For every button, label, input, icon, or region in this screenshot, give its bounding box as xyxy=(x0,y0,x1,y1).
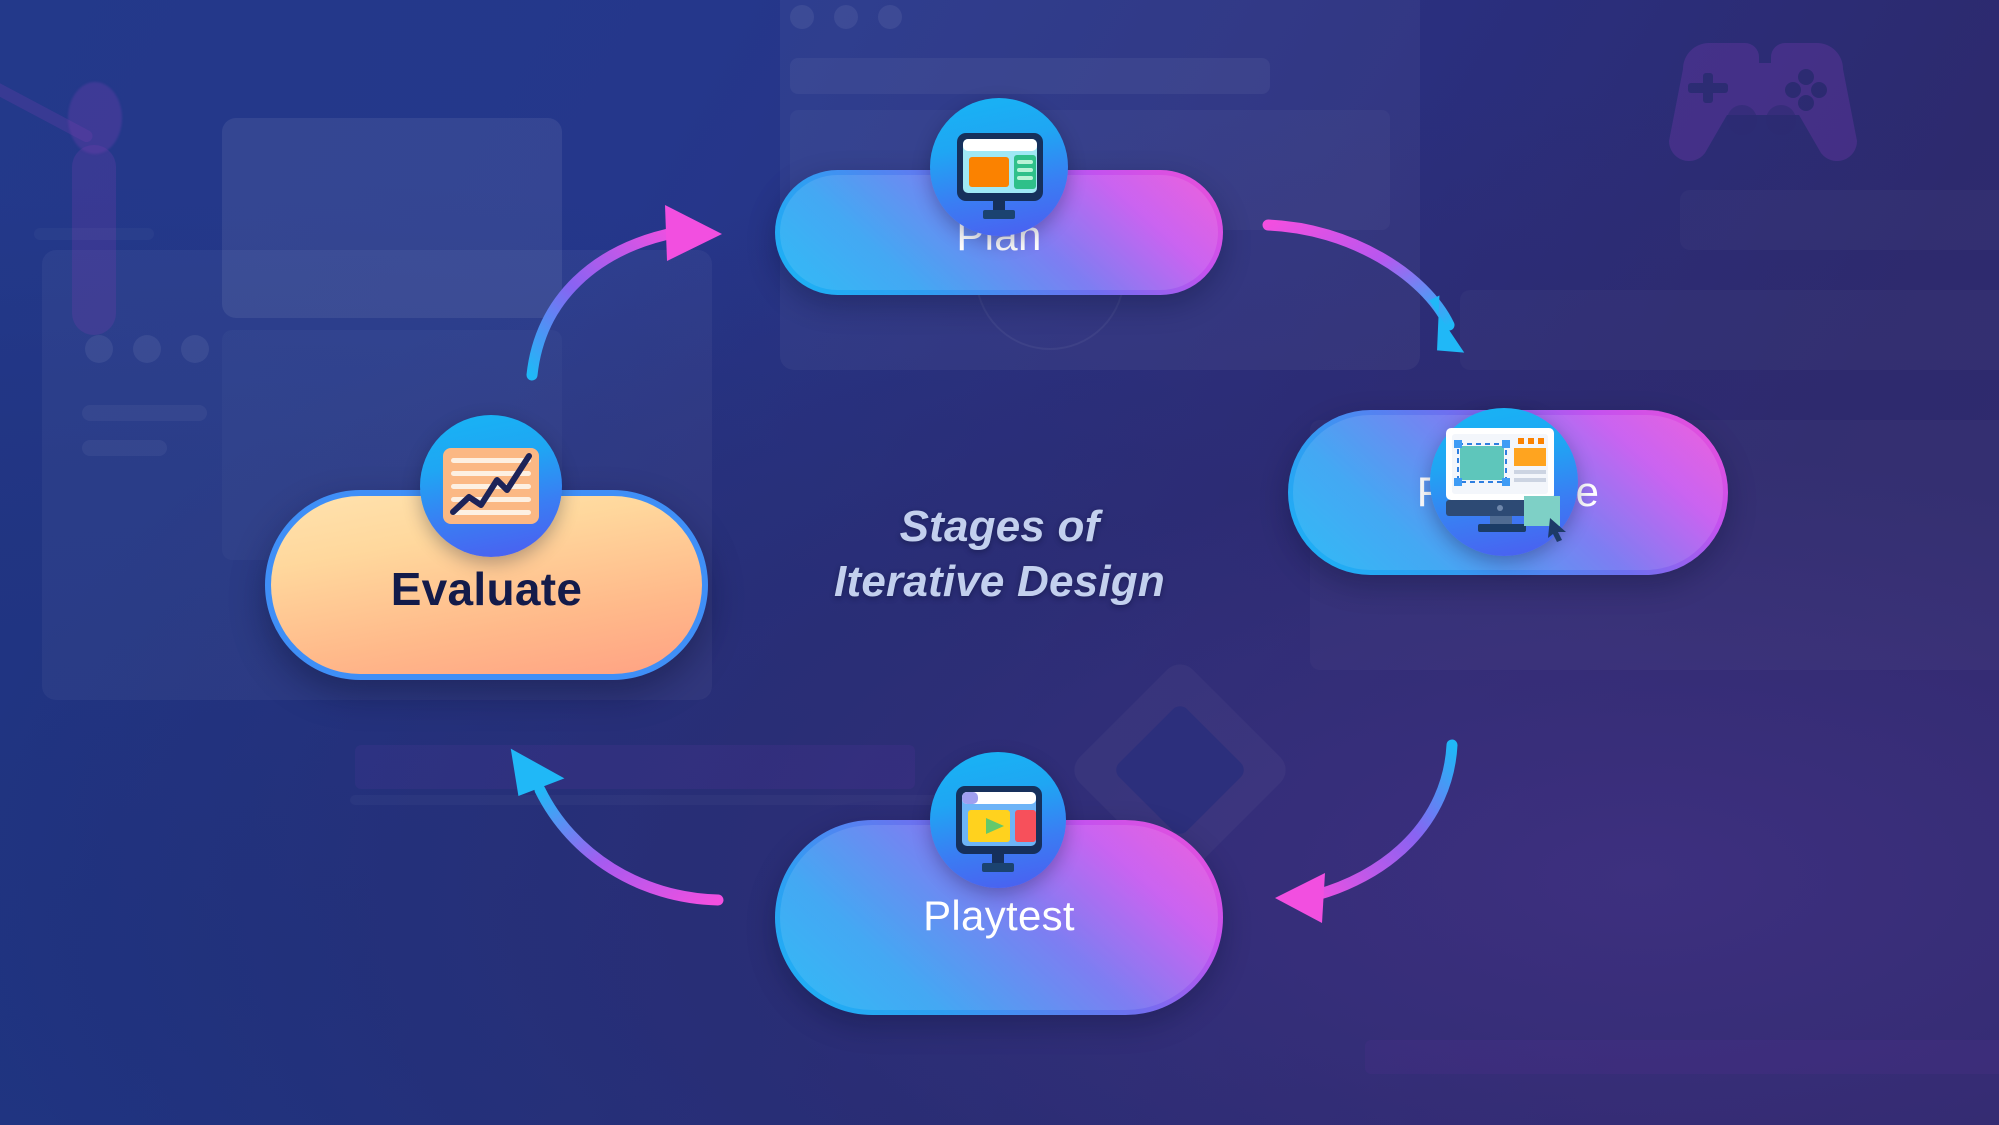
bg-microphone-stand xyxy=(34,228,154,240)
bg-window-bar xyxy=(82,405,207,421)
bg-microphone-body xyxy=(72,145,116,335)
bg-window-dot xyxy=(878,5,902,29)
bg-window-bar xyxy=(82,440,167,456)
diagram-caption: Stages of Iterative Design xyxy=(740,500,1260,609)
monitor-design-tool-icon xyxy=(1430,408,1578,556)
bg-bar-right-a xyxy=(1365,1040,1999,1074)
bg-microphone-head xyxy=(68,82,122,154)
bg-window-bar xyxy=(790,58,1270,94)
bg-window-dot xyxy=(85,335,113,363)
diagram-canvas: Stages of Iterative Design Plan Prototyp… xyxy=(0,0,1999,1125)
bg-window-dot xyxy=(834,5,858,29)
bg-keyboard xyxy=(355,745,915,789)
bg-panel-right-mid xyxy=(1460,290,1999,370)
node-playtest-label: Playtest xyxy=(775,892,1223,940)
caption-line-2: Iterative Design xyxy=(740,555,1260,610)
monitor-design-tool-glyph xyxy=(1438,420,1570,544)
gamepad-icon xyxy=(1655,25,1875,175)
monitor-layout-glyph xyxy=(943,111,1055,223)
analytics-trend-chart-glyph xyxy=(439,442,543,530)
node-evaluate-label: Evaluate xyxy=(265,562,708,616)
bg-panel-right-top xyxy=(1680,190,1999,250)
bg-window-dot xyxy=(790,5,814,29)
bg-window-dot xyxy=(133,335,161,363)
monitor-layout-icon xyxy=(930,98,1068,236)
bg-window-dot xyxy=(181,335,209,363)
caption-line-1: Stages of xyxy=(740,500,1260,555)
monitor-video-play-glyph xyxy=(942,764,1054,876)
bg-keyboard-edge xyxy=(350,795,970,805)
analytics-trend-chart-icon xyxy=(420,415,562,557)
monitor-video-play-icon xyxy=(930,752,1066,888)
bg-panel-upper-left xyxy=(222,118,562,318)
